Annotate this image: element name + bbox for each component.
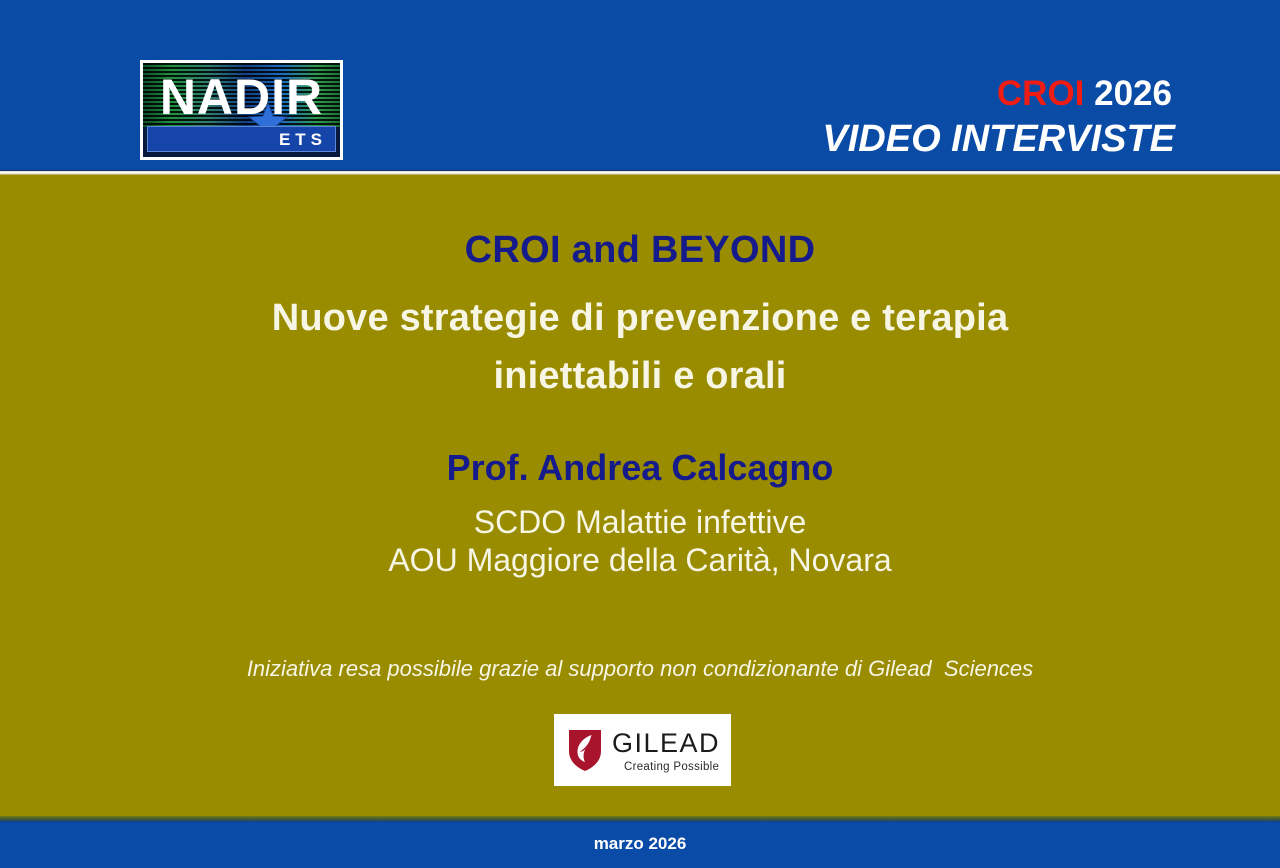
sponsor-acknowledgement: Iniziativa resa possibile grazie al supp… [0, 656, 1280, 682]
page-subtitle-line-1: Nuove strategie di prevenzione e terapia [0, 289, 1280, 347]
event-name-year: CROI 2026 [997, 74, 1172, 114]
page-title: CROI and BEYOND [0, 229, 1280, 272]
speaker-affiliation: SCDO Malattie infettive AOU Maggiore del… [0, 503, 1280, 579]
nadir-logo-footer-band: ETS [147, 126, 336, 152]
event-subtitle: VIDEO INTERVISTE [822, 118, 1175, 161]
nadir-logo-ets-label: ETS [279, 128, 327, 152]
speaker-affiliation-line-1: SCDO Malattie infettive [0, 503, 1280, 541]
speaker-name: Prof. Andrea Calcagno [0, 447, 1280, 489]
page-subtitle-line-2: iniettabili e orali [0, 347, 1280, 405]
page-subtitle: Nuove strategie di prevenzione e terapia… [0, 289, 1280, 405]
gilead-tagline: Creating Possible [624, 760, 719, 774]
event-name: CROI [997, 74, 1085, 113]
gilead-logo: GILEAD Creating Possible [554, 714, 731, 786]
slide-footer: marzo 2026 [0, 822, 1280, 868]
gilead-shield-icon [568, 728, 602, 772]
nadir-logo: NADIR ETS [140, 60, 343, 160]
slide-date: marzo 2026 [0, 834, 1280, 854]
presentation-slide: NADIR ETS CROI 2026 VIDEO INTERVISTE CRO… [0, 0, 1280, 868]
event-year-spacer [1084, 74, 1094, 113]
speaker-affiliation-line-2: AOU Maggiore della Carità, Novara [0, 541, 1280, 579]
event-year: 2026 [1094, 74, 1172, 113]
slide-header: NADIR ETS CROI 2026 VIDEO INTERVISTE [0, 0, 1280, 170]
gilead-wordmark: GILEAD [612, 728, 720, 758]
nadir-logo-wordmark: NADIR [143, 65, 340, 129]
